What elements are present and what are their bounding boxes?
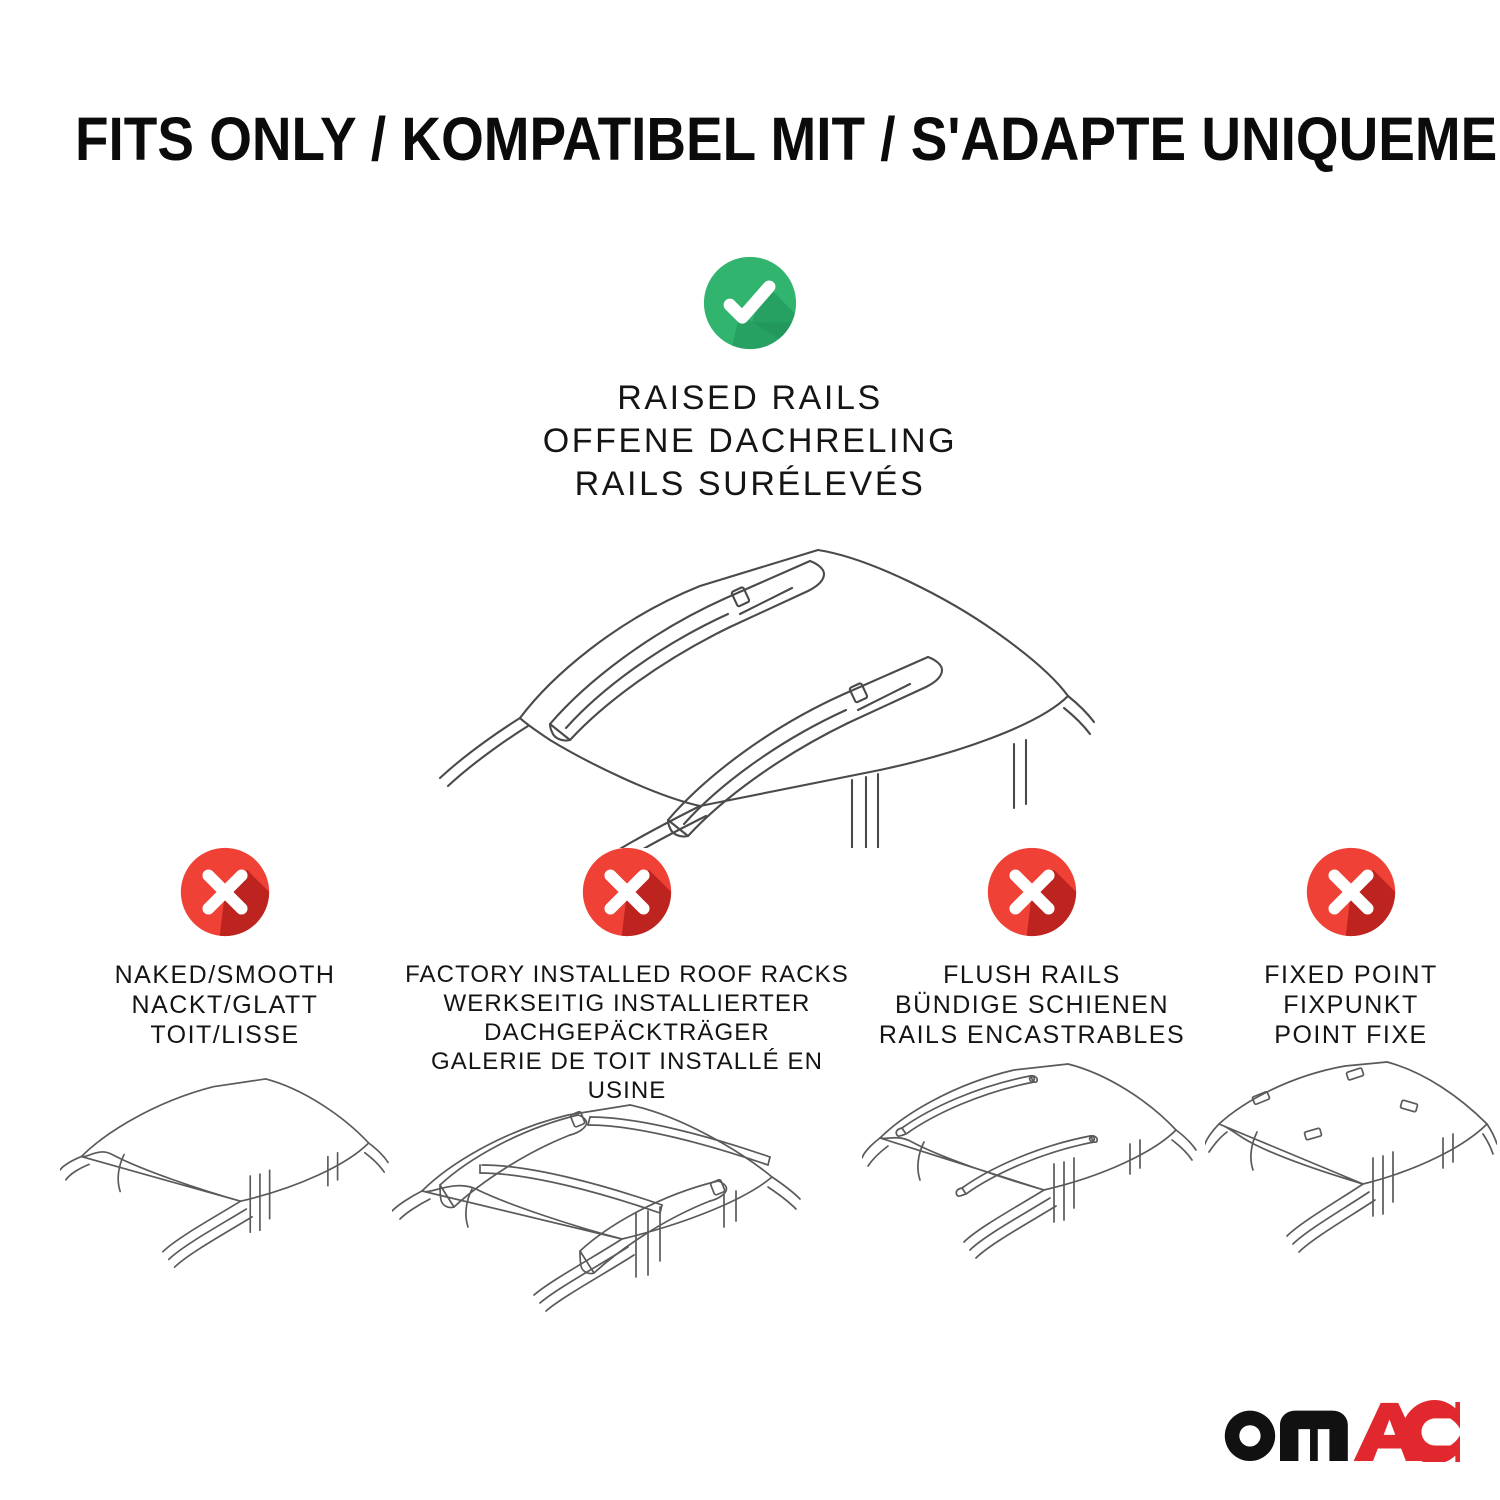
page-title: FITS ONLY / KOMPATIBEL MIT / S'ADAPTE UN… bbox=[75, 104, 1425, 174]
label-line-fr: RAILS ENCASTRABLES bbox=[879, 1020, 1185, 1050]
label-line-en: FLUSH RAILS bbox=[879, 960, 1185, 990]
red-x-badge-factory-racks bbox=[581, 846, 673, 938]
close-icon bbox=[179, 846, 271, 938]
fitment-infographic: FITS ONLY / KOMPATIBEL MIT / S'ADAPTE UN… bbox=[0, 0, 1500, 1500]
flush-rails-illustration bbox=[862, 1060, 1202, 1275]
label-line-de-1: WERKSEITIG INSTALLIERTER bbox=[392, 989, 862, 1018]
close-icon bbox=[581, 846, 673, 938]
compatible-label-fr: RAILS SURÉLEVÉS bbox=[543, 463, 957, 506]
incompatible-labels-naked-smooth: NAKED/SMOOTH NACKT/GLATT TOIT/LISSE bbox=[115, 960, 336, 1050]
compatible-labels: RAISED RAILS OFFENE DACHRELING RAILS SUR… bbox=[543, 377, 957, 506]
label-line-de: BÜNDIGE SCHIENEN bbox=[879, 990, 1185, 1020]
incompatible-section: NAKED/SMOOTH NACKT/GLATT TOIT/LISSE bbox=[0, 846, 1500, 1316]
label-line-fr: POINT FIXE bbox=[1264, 1020, 1437, 1050]
green-check-badge bbox=[702, 255, 798, 351]
label-line-de-2: DACHGEPÄCKTRÄGER bbox=[392, 1018, 862, 1047]
incompatible-item-naked-smooth: NAKED/SMOOTH NACKT/GLATT TOIT/LISSE bbox=[60, 846, 390, 1283]
naked-smooth-illustration bbox=[60, 1068, 390, 1283]
compatible-section: RAISED RAILS OFFENE DACHRELING RAILS SUR… bbox=[0, 255, 1500, 848]
omac-logo bbox=[1218, 1400, 1460, 1462]
incompatible-item-fixed-point: FIXED POINT FIXPUNKT POINT FIXE bbox=[1205, 846, 1497, 1275]
label-line-de: NACKT/GLATT bbox=[115, 990, 336, 1020]
close-icon bbox=[986, 846, 1078, 938]
label-line-en: NAKED/SMOOTH bbox=[115, 960, 336, 990]
red-x-badge-flush-rails bbox=[986, 846, 1078, 938]
compatible-label-en: RAISED RAILS bbox=[543, 377, 957, 420]
label-line-de: FIXPUNKT bbox=[1264, 990, 1437, 1020]
red-x-badge-fixed-point bbox=[1305, 846, 1397, 938]
incompatible-labels-factory-racks: FACTORY INSTALLED ROOF RACKS WERKSEITIG … bbox=[392, 960, 862, 1105]
fixed-point-illustration bbox=[1205, 1060, 1497, 1275]
red-x-badge-naked-smooth bbox=[179, 846, 271, 938]
incompatible-item-flush-rails: FLUSH RAILS BÜNDIGE SCHIENEN RAILS ENCAS… bbox=[862, 846, 1202, 1275]
compatible-label-de: OFFENE DACHRELING bbox=[543, 420, 957, 463]
incompatible-labels-fixed-point: FIXED POINT FIXPUNKT POINT FIXE bbox=[1264, 960, 1437, 1050]
check-icon bbox=[702, 255, 798, 351]
incompatible-labels-flush-rails: FLUSH RAILS BÜNDIGE SCHIENEN RAILS ENCAS… bbox=[879, 960, 1185, 1050]
label-line-en: FIXED POINT bbox=[1264, 960, 1437, 990]
raised-rails-illustration bbox=[400, 528, 1100, 848]
close-icon bbox=[1305, 846, 1397, 938]
factory-racks-illustration bbox=[392, 1101, 862, 1316]
label-line-fr: GALERIE DE TOIT INSTALLÉ EN USINE bbox=[392, 1047, 862, 1105]
label-line-en: FACTORY INSTALLED ROOF RACKS bbox=[392, 960, 862, 989]
label-line-fr: TOIT/LISSE bbox=[115, 1020, 336, 1050]
incompatible-item-factory-racks: FACTORY INSTALLED ROOF RACKS WERKSEITIG … bbox=[392, 846, 862, 1316]
